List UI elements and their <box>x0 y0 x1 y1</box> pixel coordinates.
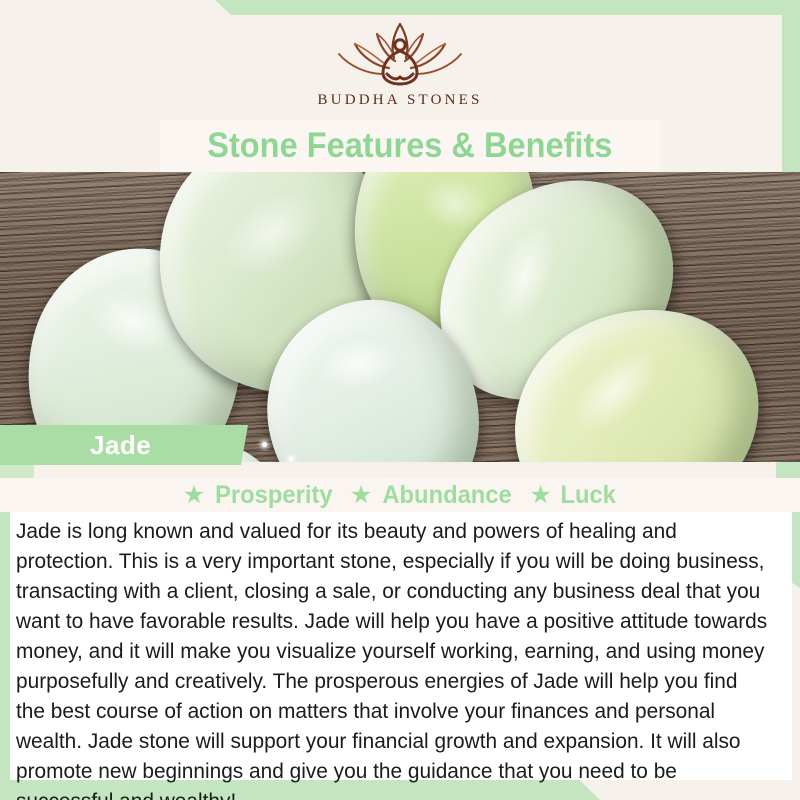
star-icon: ★ <box>350 483 372 508</box>
stone-name-bar: Jade <box>0 425 248 465</box>
benefit-item: ★ Abundance <box>350 481 516 510</box>
benefit-label: Prosperity <box>215 481 332 510</box>
title-panel: Stone Features & Benefits <box>160 120 660 172</box>
stone-photo <box>0 172 800 462</box>
infographic-page: BUDDHA STONES Stone Features & Benefits … <box>0 0 800 800</box>
benefit-label: Luck <box>560 481 615 510</box>
decor-green-left-body <box>0 505 10 790</box>
description-panel: Jade is long known and valued for its be… <box>10 512 792 780</box>
decor-green-top-band <box>0 0 800 15</box>
sparkle-icon <box>289 457 293 461</box>
star-icon: ★ <box>183 483 205 508</box>
benefit-item: ★ Prosperity <box>183 481 336 510</box>
brand-name: BUDDHA STONES <box>317 92 482 109</box>
page-title: Stone Features & Benefits <box>207 126 612 166</box>
lotus-meditation-icon <box>325 18 475 90</box>
star-icon: ★ <box>529 483 551 508</box>
benefit-label: Abundance <box>383 481 512 510</box>
benefit-item: ★ Luck <box>529 481 617 510</box>
brand-logo: BUDDHA STONES <box>0 18 800 118</box>
stone-name-label: Jade <box>90 430 151 461</box>
benefits-row: ★ Prosperity ★ Abundance ★ Luck <box>0 478 800 512</box>
description-text: Jade is long known and valued for its be… <box>16 516 769 800</box>
sparkle-icon <box>262 442 267 447</box>
